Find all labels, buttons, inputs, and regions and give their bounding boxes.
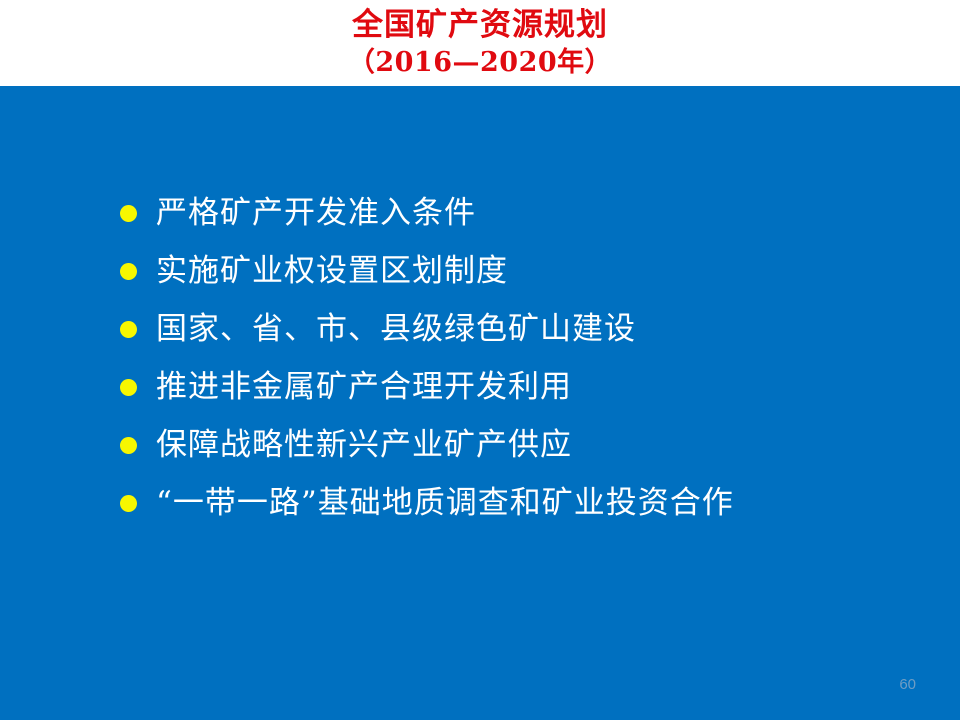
filled-circle-bullet-icon <box>120 379 137 396</box>
filled-circle-bullet-icon <box>120 495 137 512</box>
list-item: “一带一路”基础地质调查和矿业投资合作 <box>120 474 734 532</box>
filled-circle-bullet-icon <box>120 321 137 338</box>
slide-header: 全国矿产资源规划 （2016—2020年） <box>0 0 960 86</box>
filled-circle-bullet-icon <box>120 263 137 280</box>
bullet-list: 严格矿产开发准入条件 实施矿业权设置区划制度 国家、省、市、县级绿色矿山建设 推… <box>120 184 734 532</box>
list-item-label: 保障战略性新兴产业矿产供应 <box>156 426 572 464</box>
filled-circle-bullet-icon <box>120 437 137 454</box>
list-item-label: 国家、省、市、县级绿色矿山建设 <box>156 310 636 348</box>
slide-content-panel: 严格矿产开发准入条件 实施矿业权设置区划制度 国家、省、市、县级绿色矿山建设 推… <box>0 86 960 720</box>
filled-circle-bullet-icon <box>120 205 137 222</box>
slide-title-primary: 全国矿产资源规划 <box>352 5 608 45</box>
list-item-label: “一带一路”基础地质调查和矿业投资合作 <box>156 484 734 522</box>
list-item: 国家、省、市、县级绿色矿山建设 <box>120 300 734 358</box>
list-item-label: 实施矿业权设置区划制度 <box>156 252 508 290</box>
list-item: 推进非金属矿产合理开发利用 <box>120 358 734 416</box>
presentation-slide: 全国矿产资源规划 （2016—2020年） 严格矿产开发准入条件 实施矿业权设置… <box>0 0 960 720</box>
list-item: 严格矿产开发准入条件 <box>120 184 734 242</box>
page-number: 60 <box>899 676 916 694</box>
list-item: 保障战略性新兴产业矿产供应 <box>120 416 734 474</box>
list-item: 实施矿业权设置区划制度 <box>120 242 734 300</box>
slide-title-subtitle: （2016—2020年） <box>348 45 612 81</box>
list-item-label: 严格矿产开发准入条件 <box>156 194 476 232</box>
list-item-label: 推进非金属矿产合理开发利用 <box>156 368 572 406</box>
